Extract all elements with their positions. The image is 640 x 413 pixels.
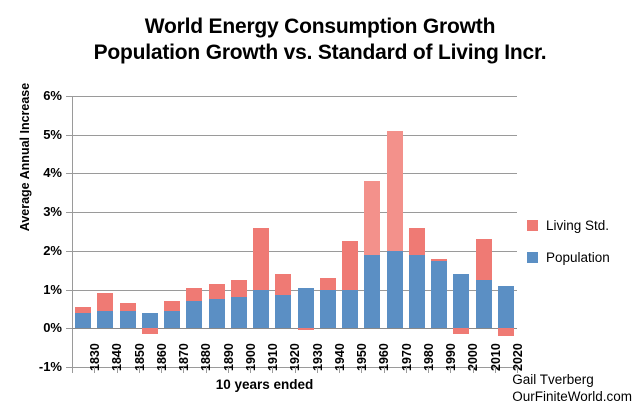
bar-segment-living-std [387,131,403,251]
bar-segment-living-std [409,228,425,255]
x-axis-tick [161,367,162,373]
chart-legend: Living Std. Population [527,218,639,282]
legend-swatch-population-icon [527,252,538,263]
chart-title-line-2: Population Growth vs. Standard of Living… [0,40,640,66]
x-axis-tick [295,367,296,373]
x-axis-title: 10 years ended [72,377,457,392]
legend-item-population[interactable]: Population [527,250,639,265]
bar-segment-living-std [431,259,447,261]
x-axis-tick [250,367,251,373]
legend-item-living-std[interactable]: Living Std. [527,218,639,233]
bar-segment-living-std [253,228,269,290]
attribution-site: OurFiniteWorld.com [512,388,632,405]
chart-title: World Energy Consumption Growth Populati… [0,14,640,66]
y-axis-label-1%: 1% [18,283,62,296]
x-axis-tick [272,367,273,373]
y-axis-label-0%: 0% [18,321,62,334]
x-axis-tick [473,367,474,373]
x-axis-tick [139,367,140,373]
y-axis-label-3%: 3% [18,205,62,218]
x-axis-label-2020: 2020 [512,311,525,371]
bar-segment-living-std [320,278,336,290]
x-axis-tick [450,367,451,373]
x-axis-tick [361,367,362,373]
y-axis-title: Average Annual Increase [18,47,32,267]
y-axis-label-4%: 4% [18,166,62,179]
y-axis-label-5%: 5% [18,128,62,141]
legend-label-living-std: Living Std. [546,218,609,233]
x-axis-tick [72,367,73,373]
x-axis-tick [384,367,385,373]
legend-label-population: Population [546,250,610,265]
attribution: Gail Tverberg OurFiniteWorld.com [512,371,632,405]
plot-area: 1830184018501860187018801890190019101920… [72,96,517,367]
x-axis-tick [228,367,229,373]
bar-segment-living-std [164,301,180,311]
bar-segment-living-std [364,181,380,255]
bar-segment-living-std [231,280,247,297]
x-axis-tick [183,367,184,373]
x-axis-tick [206,367,207,373]
bar-segment-living-std [342,241,358,289]
x-axis-tick [317,367,318,373]
x-axis-tick [117,367,118,373]
legend-swatch-living-std-icon [527,220,538,231]
bar-segment-living-std [120,303,136,311]
bar-segment-living-std [275,274,291,295]
x-axis-tick [495,367,496,373]
x-axis-tick [339,367,340,373]
bar-segment-living-std [476,239,492,280]
y-axis-label--1%: -1% [18,360,62,373]
y-axis-label-2%: 2% [18,244,62,257]
attribution-author: Gail Tverberg [512,371,632,388]
y-axis-label-6%: 6% [18,89,62,102]
bar-segment-living-std [186,288,202,302]
bar-segment-living-std [209,284,225,299]
bar-segment-living-std [97,293,113,310]
x-axis-tick [428,367,429,373]
chart-title-line-1: World Energy Consumption Growth [0,14,640,40]
x-axis-tick [406,367,407,373]
x-axis-tick [94,367,95,373]
